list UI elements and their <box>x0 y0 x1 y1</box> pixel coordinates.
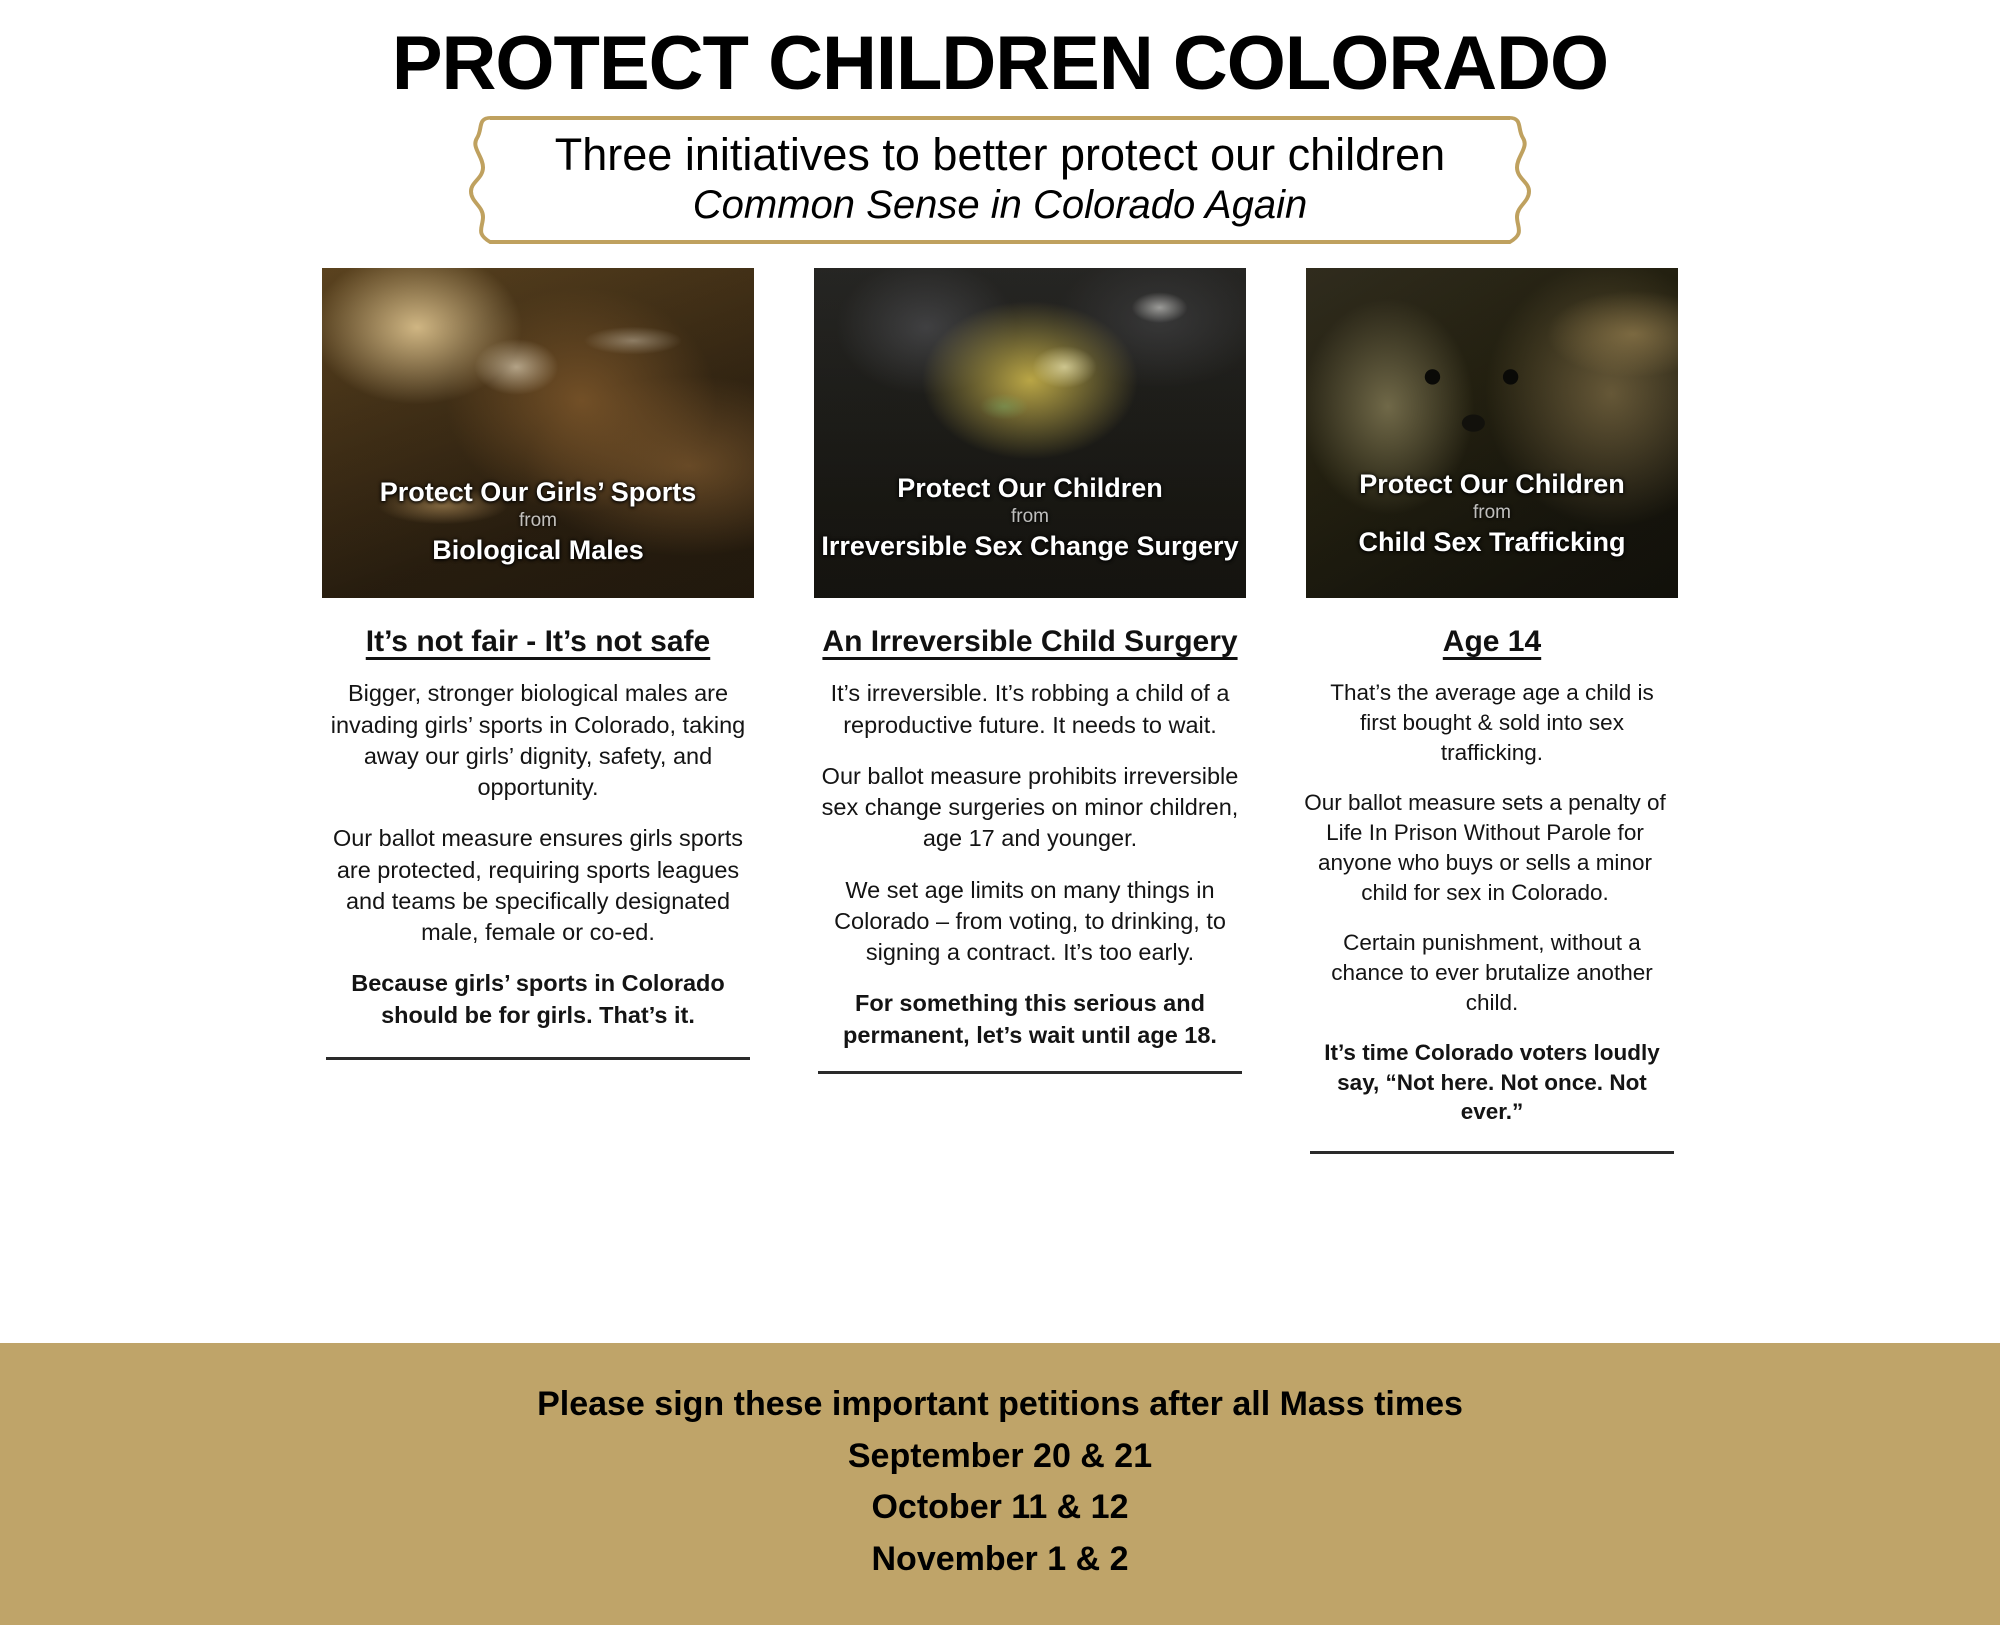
photo-caption-top: Protect Our Children <box>1306 469 1678 501</box>
footer-banner: Please sign these important petitions af… <box>0 1343 2000 1625</box>
initiative-card-sex-change-surgery: Protect Our Children from Irreversible S… <box>814 268 1246 1074</box>
scallop-left-decoration <box>469 116 491 244</box>
card-paragraph: Our ballot measure prohibits irreversibl… <box>818 761 1242 855</box>
card-closing-statement: Because girls’ sports in Colorado should… <box>326 968 750 1031</box>
photo-caption-bottom: Irreversible Sex Change Surgery <box>814 530 1246 562</box>
card-body: An Irreversible Child Surgery It’s irrev… <box>814 598 1246 1074</box>
initiative-cards-row: Protect Our Girls’ Sports from Biologica… <box>0 268 2000 1154</box>
footer-line-date-october: October 11 & 12 <box>0 1482 2000 1534</box>
photo-caption-block: Protect Our Children from Irreversible S… <box>814 473 1246 563</box>
initiative-card-sex-trafficking: Protect Our Children from Child Sex Traf… <box>1306 268 1678 1154</box>
card-paragraph: Our ballot measure ensures girls sports … <box>326 823 750 948</box>
page-title: PROTECT CHILDREN COLORADO <box>0 0 2000 102</box>
photo-caption-from: from <box>1306 500 1678 526</box>
photo-caption-from: from <box>814 504 1246 530</box>
card-paragraph: Bigger, stronger biological males are in… <box>326 678 750 803</box>
subtitle-wrapper: Three initiatives to better protect our … <box>0 116 2000 244</box>
photo-caption-bottom: Biological Males <box>322 534 754 566</box>
subtitle-box: Three initiatives to better protect our … <box>490 116 1510 244</box>
card-body: Age 14 That’s the average age a child is… <box>1306 598 1678 1154</box>
card-photo-trafficking: Protect Our Children from Child Sex Traf… <box>1306 268 1678 598</box>
card-divider <box>326 1057 750 1060</box>
card-heading: Age 14 <box>1310 624 1674 660</box>
photo-caption-top: Protect Our Children <box>814 473 1246 505</box>
footer-line-date-september: September 20 & 21 <box>0 1431 2000 1483</box>
card-photo-girls-sports: Protect Our Girls’ Sports from Biologica… <box>322 268 754 598</box>
card-divider <box>818 1071 1242 1074</box>
card-paragraph: We set age limits on many things in Colo… <box>818 875 1242 969</box>
card-divider <box>1310 1151 1674 1154</box>
card-paragraph: Certain punishment, without a chance to … <box>1310 928 1674 1018</box>
subtitle-italic: Common Sense in Colorado Again <box>530 182 1470 228</box>
photo-caption-top: Protect Our Girls’ Sports <box>322 477 754 509</box>
footer-line-date-november: November 1 & 2 <box>0 1534 2000 1586</box>
photo-caption-bottom: Child Sex Trafficking <box>1306 526 1678 558</box>
card-heading: It’s not fair - It’s not safe <box>326 624 750 660</box>
card-closing-statement: For something this serious and permanent… <box>818 988 1242 1051</box>
scallop-right-decoration <box>1509 116 1531 244</box>
footer-line-instruction: Please sign these important petitions af… <box>0 1379 2000 1431</box>
subtitle-main: Three initiatives to better protect our … <box>530 130 1470 180</box>
initiative-card-girls-sports: Protect Our Girls’ Sports from Biologica… <box>322 268 754 1060</box>
card-paragraph: That’s the average age a child is first … <box>1310 678 1674 768</box>
card-heading: An Irreversible Child Surgery <box>818 624 1242 660</box>
card-closing-statement: It’s time Colorado voters loudly say, “N… <box>1310 1038 1674 1128</box>
card-photo-surgery: Protect Our Children from Irreversible S… <box>814 268 1246 598</box>
photo-caption-block: Protect Our Girls’ Sports from Biologica… <box>322 477 754 567</box>
card-paragraph: Our ballot measure sets a penalty of Lif… <box>1296 788 1674 908</box>
photo-caption-from: from <box>322 508 754 534</box>
photo-caption-block: Protect Our Children from Child Sex Traf… <box>1306 469 1678 559</box>
card-body: It’s not fair - It’s not safe Bigger, st… <box>322 598 754 1060</box>
card-paragraph: It’s irreversible. It’s robbing a child … <box>818 678 1242 741</box>
